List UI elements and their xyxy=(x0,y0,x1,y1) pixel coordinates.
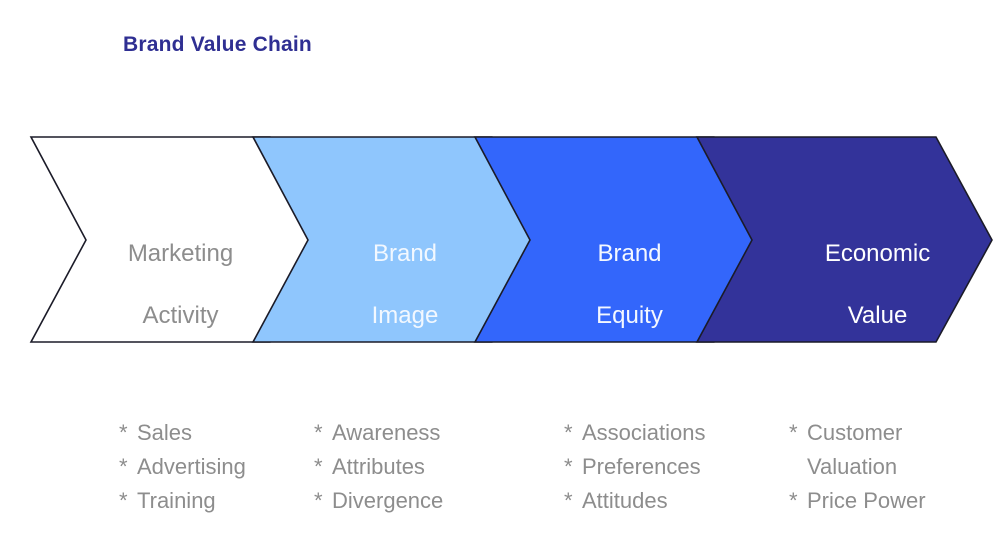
diagram-canvas: Brand Value Chain Marketing Activity Bra… xyxy=(0,0,1000,536)
bullet-text: Customer xyxy=(807,420,902,445)
list-item: *Customer xyxy=(789,416,926,450)
bullet-text: Training xyxy=(137,488,216,513)
bullet-star: * xyxy=(119,416,137,450)
bullet-text: Awareness xyxy=(332,420,440,445)
list-item: *Advertising xyxy=(119,450,246,484)
list-item: *Awareness xyxy=(314,416,443,450)
list-item: *Divergence xyxy=(314,484,443,518)
list-item: *Attitudes xyxy=(564,484,706,518)
bullet-star: * xyxy=(119,450,137,484)
bullet-star: * xyxy=(314,450,332,484)
bullet-star: * xyxy=(564,450,582,484)
list-item: *Price Power xyxy=(789,484,926,518)
bullet-column-brand-equity: *Associations *Preferences *Attitudes xyxy=(564,416,706,518)
list-item: *Training xyxy=(119,484,246,518)
bullet-star: * xyxy=(119,484,137,518)
bullet-text: Attitudes xyxy=(582,488,668,513)
bullet-star: * xyxy=(789,484,807,518)
bullet-text: Sales xyxy=(137,420,192,445)
list-item: *Valuation xyxy=(789,450,926,484)
bullet-column-economic-value: *Customer *Valuation *Price Power xyxy=(789,416,926,518)
list-item: *Sales xyxy=(119,416,246,450)
bullet-text: Preferences xyxy=(582,454,701,479)
bullet-text: Advertising xyxy=(137,454,246,479)
bullet-star: * xyxy=(314,416,332,450)
bullet-star: * xyxy=(564,484,582,518)
bullet-star: * xyxy=(564,416,582,450)
bullet-column-marketing-activity: *Sales *Advertising *Training xyxy=(119,416,246,518)
bullet-text: Associations xyxy=(582,420,706,445)
bullet-text: Valuation xyxy=(807,454,897,479)
chevron-shapes xyxy=(0,128,1000,353)
bullet-star: * xyxy=(314,484,332,518)
page-title: Brand Value Chain xyxy=(123,33,312,57)
bullet-column-brand-image: *Awareness *Attributes *Divergence xyxy=(314,416,443,518)
bullet-text: Attributes xyxy=(332,454,425,479)
bullet-columns: *Sales *Advertising *Training *Awareness… xyxy=(0,416,1000,521)
list-item: *Attributes xyxy=(314,450,443,484)
bullet-text: Divergence xyxy=(332,488,443,513)
brand-value-chain-chevron-band xyxy=(0,128,1000,353)
bullet-text: Price Power xyxy=(807,488,926,513)
list-item: *Associations xyxy=(564,416,706,450)
list-item: *Preferences xyxy=(564,450,706,484)
bullet-star: * xyxy=(789,416,807,450)
